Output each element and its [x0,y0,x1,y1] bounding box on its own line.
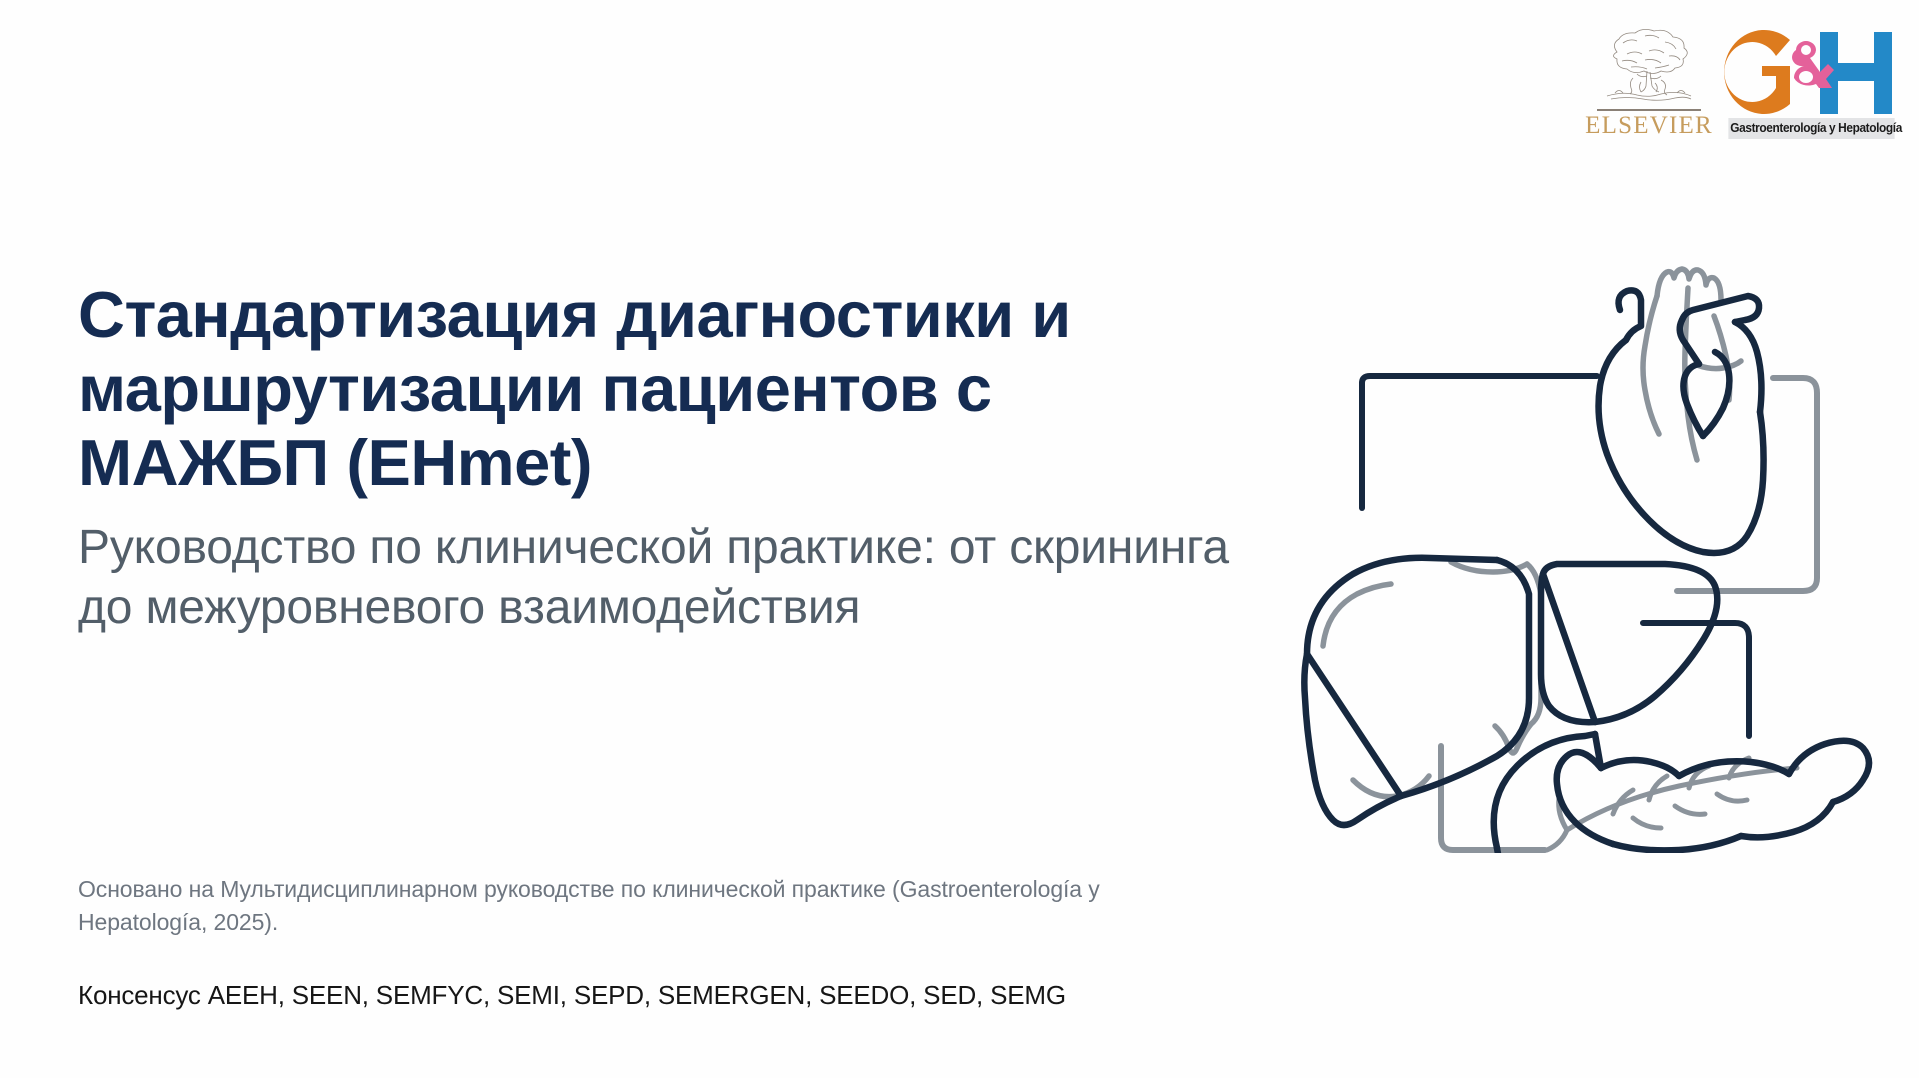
page-title: Стандартизация диагностики и маршрутизац… [78,278,1258,500]
connector-liver-to-heart-top [1362,376,1597,383]
elsevier-tree-emblem [1597,26,1701,108]
page-subtitle: Руководство по клинической практике: от … [78,518,1258,637]
gh-letter-g [1724,30,1790,114]
elsevier-wordmark: ELSEVIER [1585,113,1713,138]
connector-liver-to-pancreas [1643,623,1749,736]
gh-caption: Gastroenterología y Hepatología [1728,118,1894,139]
gh-monogram [1724,26,1899,118]
pancreas-illustration [1494,734,1869,853]
connector-heart-to-liver-right [1677,378,1817,591]
elsevier-divider [1597,109,1701,111]
title-slide: ELSEVIER Gastroenterología y Hepa [0,0,1919,1078]
logo-bar: ELSEVIER Gastroenterología y Hepa [1590,26,1899,139]
gastro-hepatologia-logo: Gastroenterología y Hepatología [1724,26,1899,139]
title-block: Стандартизация диагностики и маршрутизац… [78,278,1258,637]
liver-left-lobe-top [1307,558,1497,654]
organ-line-art-diagram [1245,228,1905,853]
consensus-societies: Консенсус AEEH, SEEN, SEMFYC, SEMI, SEPD… [78,979,1278,1013]
heart-illustration [1599,269,1764,553]
elsevier-logo: ELSEVIER [1590,26,1708,138]
source-attribution: Основано на Мультидисциплинарном руковод… [78,873,1198,940]
